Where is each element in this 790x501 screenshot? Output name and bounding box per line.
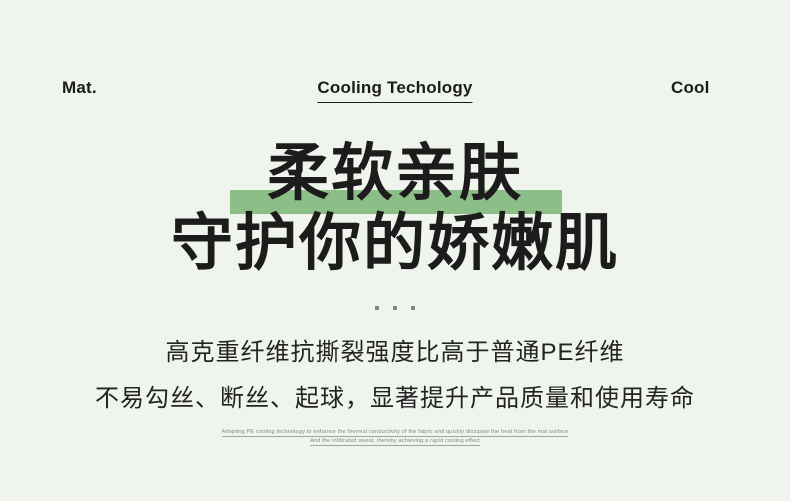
body-line-2: 不易勾丝、断丝、起球，显著提升产品质量和使用寿命 [0, 376, 790, 422]
eyebrow-label-left: Mat. [62, 76, 97, 100]
footnote-line-1-text: Adopting PE cooling technology to enhanc… [222, 429, 569, 437]
headline-line-2: 守护你的娇嫩肌 [0, 210, 790, 278]
footnote-line-2-text: And the infiltrated sweat, thereby achie… [310, 438, 480, 446]
headline-line-1: 柔软亲肤 [0, 140, 790, 208]
footnote-line-2: And the infiltrated sweat, thereby achie… [0, 437, 790, 446]
footnote-group: Adopting PE cooling technology to enhanc… [0, 428, 790, 446]
eyebrow-row: Mat. Cooling Techology Cool [0, 74, 790, 104]
eyebrow-label-right: Cool [671, 76, 710, 100]
footnote-line-1: Adopting PE cooling technology to enhanc… [0, 428, 790, 437]
body-line-1: 高克重纤维抗撕裂强度比高于普通PE纤维 [0, 330, 790, 376]
divider-dot [375, 306, 379, 310]
headline-group: 柔软亲肤 守护你的娇嫩肌 [0, 140, 790, 278]
body-copy-group: 高克重纤维抗撕裂强度比高于普通PE纤维 不易勾丝、断丝、起球，显著提升产品质量和… [0, 330, 790, 422]
divider-dot [411, 306, 415, 310]
eyebrow-label-center: Cooling Techology [317, 76, 472, 103]
dot-divider [0, 303, 790, 313]
divider-dot [393, 306, 397, 310]
product-feature-banner: Mat. Cooling Techology Cool 柔软亲肤 守护你的娇嫩肌… [0, 0, 790, 501]
